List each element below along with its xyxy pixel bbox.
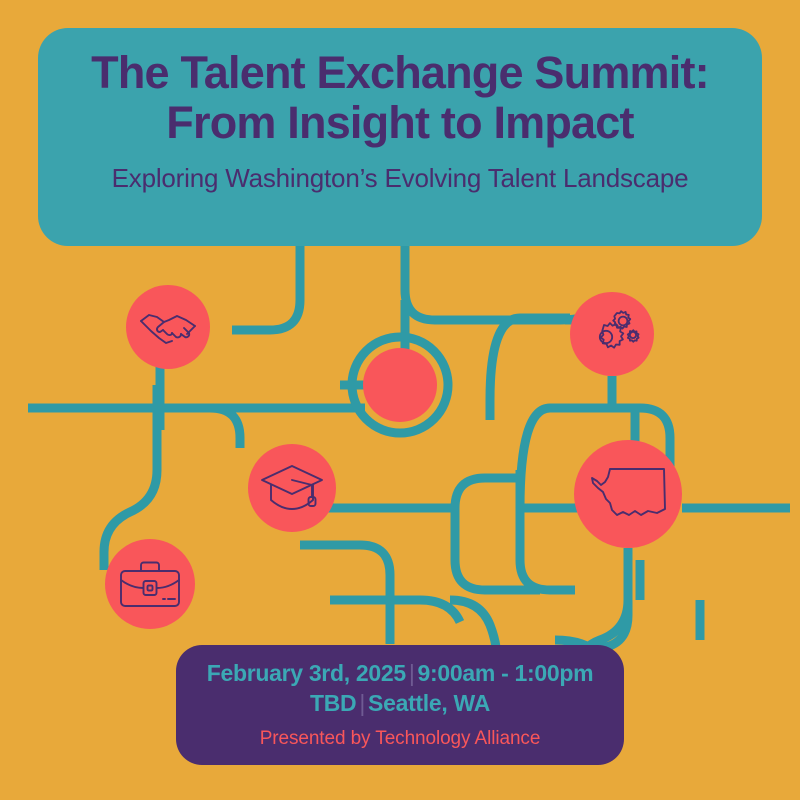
node-briefcase	[105, 539, 195, 629]
event-date: February 3rd, 2025	[207, 660, 406, 686]
event-city: Seattle, WA	[368, 690, 490, 716]
node-graduation-cap	[248, 444, 336, 532]
line-card-left-approach	[330, 600, 460, 622]
line-wa-far-left-curve	[455, 478, 520, 508]
line-header-left-drop	[232, 246, 300, 330]
line-lower-mid	[300, 545, 390, 620]
event-details-card: February 3rd, 2025|9:00am - 1:00pm TBD|S…	[176, 645, 624, 765]
event-datetime: February 3rd, 2025|9:00am - 1:00pm	[176, 658, 624, 688]
location-separator: |	[356, 690, 368, 716]
title-line-2: From Insight to Impact	[64, 98, 736, 148]
header-card: The Talent Exchange Summit: From Insight…	[38, 28, 762, 246]
node-gears	[570, 292, 654, 376]
event-time: 9:00am - 1:00pm	[418, 660, 594, 686]
title-line-1: The Talent Exchange Summit:	[91, 47, 709, 98]
line-gears-lower-feed	[490, 318, 570, 400]
node-hub	[363, 348, 437, 422]
graduation-cap-icon	[260, 463, 324, 513]
event-poster: The Talent Exchange Summit: From Insight…	[0, 0, 800, 800]
washington-state-icon	[588, 463, 668, 525]
line-left-branch-down	[160, 408, 240, 448]
datetime-separator: |	[406, 660, 418, 686]
event-location: TBD|Seattle, WA	[176, 688, 624, 718]
briefcase-icon	[119, 560, 181, 608]
handshake-icon	[139, 307, 197, 347]
gears-icon	[584, 307, 640, 361]
page-title: The Talent Exchange Summit: From Insight…	[64, 48, 736, 149]
line-wa-lower-left	[455, 508, 540, 590]
presented-by: Presented by Technology Alliance	[176, 728, 624, 751]
line-wa-loop-left	[520, 470, 575, 590]
event-venue: TBD	[310, 690, 356, 716]
page-subtitle: Exploring Washington’s Evolving Talent L…	[64, 163, 736, 194]
node-washington-state	[574, 440, 682, 548]
node-handshake	[126, 285, 210, 369]
line-wa-down	[600, 548, 628, 648]
line-header-to-right	[405, 246, 605, 320]
